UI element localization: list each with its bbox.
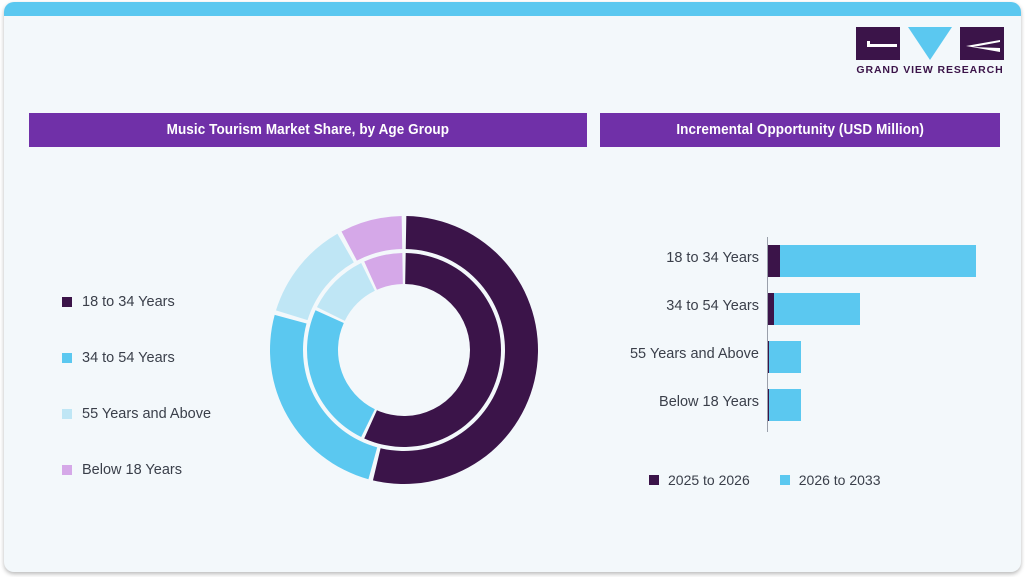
- brand-logo: GRAND VIEW RESEARCH: [856, 27, 1004, 79]
- logo-g-stub: [867, 41, 870, 47]
- logo-v-triangle-icon: [908, 27, 952, 60]
- legend-item[interactable]: 18 to 34 Years: [62, 274, 262, 330]
- infographic-card: GRAND VIEW RESEARCH Music Tourism Market…: [4, 2, 1021, 572]
- logo-r-arrow-icon: [966, 39, 1000, 53]
- bar-legend-swatch-1: [780, 475, 790, 485]
- logo-g-block: [856, 27, 900, 60]
- top-accent-bar: [4, 2, 1021, 16]
- legend-item[interactable]: Below 18 Years: [62, 442, 262, 498]
- right-chart-title: Incremental Opportunity (USD Million): [676, 122, 924, 138]
- bar-category-0: 18 to 34 Years: [559, 250, 759, 266]
- bar-track-0: [768, 245, 976, 277]
- table-row[interactable]: 34 to 54 Years: [604, 285, 1004, 333]
- table-row[interactable]: 55 Years and Above: [604, 333, 1004, 381]
- bar-category-2: 55 Years and Above: [559, 346, 759, 362]
- legend-item[interactable]: 2026 to 2033: [780, 472, 881, 488]
- bar-segment-2026-2033-3: [769, 389, 801, 421]
- left-chart-title: Music Tourism Market Share, by Age Group: [167, 122, 449, 138]
- bar-legend-label-0: 2025 to 2026: [668, 472, 750, 488]
- bar-segment-2026-2033-2: [769, 341, 801, 373]
- legend-swatch-3: [62, 465, 72, 475]
- donut-legend: 18 to 34 Years 34 to 54 Years 55 Years a…: [62, 274, 262, 498]
- logo-g-bar: [867, 44, 897, 47]
- legend-item[interactable]: 34 to 54 Years: [62, 330, 262, 386]
- right-chart-title-banner: Incremental Opportunity (USD Million): [600, 113, 1000, 147]
- table-row[interactable]: Below 18 Years: [604, 381, 1004, 429]
- bar-category-3: Below 18 Years: [559, 394, 759, 410]
- bar-legend-swatch-0: [649, 475, 659, 485]
- donut-svg: [266, 207, 543, 497]
- legend-label-0: 18 to 34 Years: [82, 294, 175, 310]
- bar-segment-2025-2026-0: [768, 245, 780, 277]
- legend-item[interactable]: 2025 to 2026: [649, 472, 750, 488]
- bar-chart-legend: 2025 to 2026 2026 to 2033: [649, 472, 911, 488]
- logo-marks: [856, 27, 1004, 60]
- brand-name: GRAND VIEW RESEARCH: [856, 64, 1004, 76]
- legend-swatch-1: [62, 353, 72, 363]
- bar-track-3: [768, 389, 801, 421]
- legend-label-3: Below 18 Years: [82, 462, 182, 478]
- legend-swatch-0: [62, 297, 72, 307]
- bar-segment-2026-2033-1: [774, 293, 860, 325]
- bar-segment-2026-2033-0: [780, 245, 976, 277]
- bar-track-1: [768, 293, 860, 325]
- table-row[interactable]: 18 to 34 Years: [604, 237, 1004, 285]
- left-chart-title-banner: Music Tourism Market Share, by Age Group: [29, 113, 587, 147]
- bar-category-1: 34 to 54 Years: [559, 298, 759, 314]
- age-group-donut-chart: [266, 207, 543, 497]
- bar-legend-label-1: 2026 to 2033: [799, 472, 881, 488]
- legend-item[interactable]: 55 Years and Above: [62, 386, 262, 442]
- legend-label-1: 34 to 54 Years: [82, 350, 175, 366]
- logo-r-block: [960, 27, 1004, 60]
- bar-track-2: [768, 341, 801, 373]
- legend-swatch-2: [62, 409, 72, 419]
- legend-label-2: 55 Years and Above: [82, 406, 211, 422]
- incremental-opportunity-bar-chart: 18 to 34 Years 34 to 54 Years 55 Years a…: [604, 237, 1004, 437]
